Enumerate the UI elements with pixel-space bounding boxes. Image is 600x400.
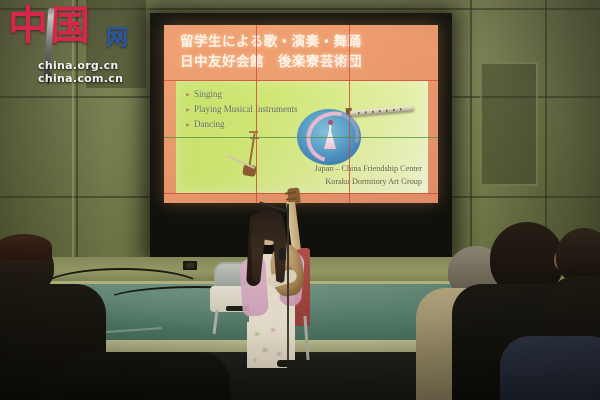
knit-hat (0, 234, 52, 260)
audience-member-bottom-right (500, 336, 600, 400)
slide-title-line1: 留学生による歌・演奏・舞踊 (180, 33, 430, 53)
slide-bullet-list: Singing Playing Musical Instruments Danc… (186, 87, 298, 132)
slide-credit-line1: Japan – China Friendship Center (315, 163, 422, 175)
stage-wall-outlet (183, 261, 197, 270)
watermark-logo-net: 网 (106, 28, 128, 50)
slide-bullet-singing: Singing (186, 87, 298, 102)
watermark-url: china.org.cn china.com.cn (38, 60, 123, 86)
microphone-head (279, 248, 286, 261)
presentation-slide: 留学生による歌・演奏・舞踊 日中友好会館 後楽寮芸術団 Singing Play… (164, 25, 438, 203)
microphone-stand (287, 204, 289, 364)
photo-canvas: 留学生による歌・演奏・舞踊 日中友好会館 後楽寮芸術団 Singing Play… (0, 0, 600, 400)
slide-bullet-dancing: Dancing (186, 117, 298, 132)
slide-title-line2: 日中友好会館 後楽寮芸術団 (180, 53, 430, 73)
wall-recess-panel (480, 62, 538, 186)
performer (233, 196, 325, 371)
navy-shoulder (500, 336, 600, 400)
watermark-url-line2: china.com.cn (38, 73, 123, 86)
slide-body: Singing Playing Musical Instruments Danc… (176, 81, 428, 193)
slide-credit-line2: Koraku Dormitory Art Group (315, 176, 422, 188)
slide-bullet-instruments: Playing Musical Instruments (186, 102, 298, 117)
microphone-base (277, 360, 299, 367)
slide-title: 留学生による歌・演奏・舞踊 日中友好会館 後楽寮芸術団 (180, 33, 430, 73)
slide-credit: Japan – China Friendship Center Koraku D… (315, 163, 422, 188)
audience-member-bottom-left (60, 352, 220, 400)
watermark: 中国 网 china.org.cn china.com.cn (8, 6, 140, 82)
